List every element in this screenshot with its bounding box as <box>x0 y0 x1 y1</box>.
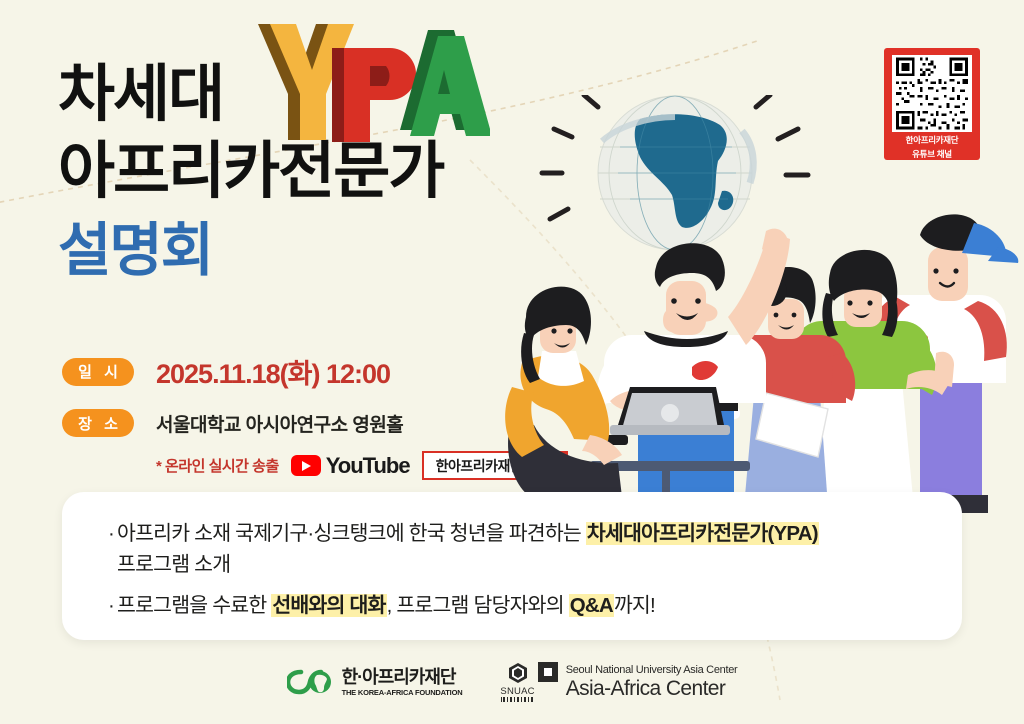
youtube-wordmark: YouTube <box>326 453 410 479</box>
stream-note: * 온라인 실시간 송출 <box>156 455 279 476</box>
bullet-2-part-3: 까지! <box>614 594 655 617</box>
snuac-full-name: Seoul National University Asia Center <box>566 665 738 676</box>
bullet-marker: · <box>108 590 114 621</box>
korea-africa-foundation-logo: 한·아프리카재단 THE KOREA-AFRICA FOUNDATION <box>287 668 463 697</box>
place-value: 서울대학교 아시아연구소 영원홀 <box>156 410 403 437</box>
globe-africa-icon <box>598 96 753 250</box>
kaf-name-korean: 한·아프리카재단 <box>342 668 463 686</box>
bullet-1-highlight: 차세대아프리카전문가(YPA) <box>586 522 819 545</box>
place-label-pill: 장 소 <box>62 409 134 437</box>
bullet-2-part-2: , 프로그램 담당자와의 <box>387 594 569 617</box>
kaf-mark-icon <box>287 668 333 696</box>
youtube-badge[interactable]: YouTube <box>291 453 410 479</box>
people-illustration <box>470 95 1024 515</box>
bullet-2-text: 프로그램을 수료한 선배와의 대화, 프로그램 담당자와의 Q&A까지! <box>117 590 655 621</box>
bullet-1-part-1: 아프리카 소재 국제기구·싱크탱크에 한국 청년을 파견하는 <box>117 522 586 545</box>
info-card: · 아프리카 소재 국제기구·싱크탱크에 한국 청년을 파견하는 차세대아프리카… <box>62 492 962 640</box>
asia-center-square-icon <box>538 662 558 682</box>
bullet-2-highlight-1: 선배와의 대화 <box>271 594 386 617</box>
snuac-center-name: Asia-Africa Center <box>566 678 738 699</box>
kaf-text-block: 한·아프리카재단 THE KOREA-AFRICA FOUNDATION <box>342 668 463 697</box>
snu-crest-icon <box>508 662 528 684</box>
snuac-barcode-icon <box>501 697 535 702</box>
bullet-marker: · <box>108 518 114 580</box>
bullet-2-highlight-2: Q&A <box>569 594 614 617</box>
snuac-text-block: Seoul National University Asia Center As… <box>566 665 738 699</box>
youtube-play-icon <box>291 455 321 476</box>
poster-root: 차세대 아프리카전문가 설명회 일 시 2025.11.18(화) 12:00 <box>0 0 1024 724</box>
kaf-name-english: THE KOREA-AFRICA FOUNDATION <box>342 689 463 697</box>
snuac-emblems: SNUAC <box>500 662 557 702</box>
bullet-2-part-1: 프로그램을 수료한 <box>117 594 271 617</box>
card-bullet-2: · 프로그램을 수료한 선배와의 대화, 프로그램 담당자와의 Q&A까지! <box>108 590 922 621</box>
date-label-pill: 일 시 <box>62 358 134 386</box>
bullet-1-part-2: 프로그램 소개 <box>117 553 230 576</box>
snuac-logo: SNUAC Seoul National University Asia Cen… <box>500 662 737 702</box>
snu-crest-block: SNUAC <box>500 662 534 702</box>
footer-logos: 한·아프리카재단 THE KOREA-AFRICA FOUNDATION SNU… <box>0 662 1024 702</box>
date-value: 2025.11.18(화) 12:00 <box>156 352 390 391</box>
card-bullet-1: · 아프리카 소재 국제기구·싱크탱크에 한국 청년을 파견하는 차세대아프리카… <box>108 518 922 580</box>
bullet-1-text: 아프리카 소재 국제기구·싱크탱크에 한국 청년을 파견하는 차세대아프리카전문… <box>117 518 819 580</box>
ypa-wordmark <box>250 18 490 153</box>
snuac-abbreviation: SNUAC <box>500 686 534 697</box>
